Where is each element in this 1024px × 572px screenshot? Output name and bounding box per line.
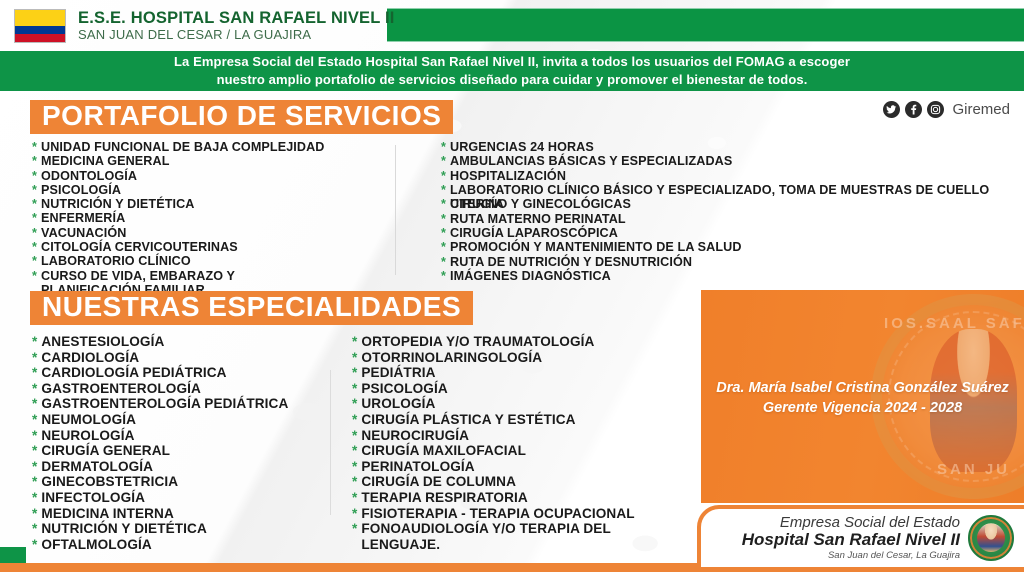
list-item: * CIRUGÍA DE COLUMNA <box>352 474 682 490</box>
list-item-label: OFTALMOLOGÍA <box>41 537 151 553</box>
bullet-star-icon: * <box>32 154 37 168</box>
top-header: E.S.E. HOSPITAL SAN RAFAEL NIVEL II SAN … <box>0 0 1024 51</box>
hospital-seal-logo-icon <box>968 515 1014 561</box>
list-item: * IMÁGENES DIAGNÓSTICA <box>441 269 1001 283</box>
list-item-label: GASTROENTEROLOGÍA PEDIÁTRICA <box>41 396 288 412</box>
list-item: * RUTA MATERNO PERINATAL <box>441 212 1001 226</box>
list-item: * ORTOPEDIA Y/O TRAUMATOLOGÍA <box>352 334 682 350</box>
list-item-label: NEUMOLOGÍA <box>41 412 136 428</box>
list-item-label: PSICOLOGÍA <box>361 381 447 397</box>
list-item-label: NUTRICIÓN Y DIETÉTICA <box>41 521 207 537</box>
list-item: * OFTALMOLOGÍA <box>32 537 322 553</box>
bullet-star-icon: * <box>32 211 37 225</box>
footer-texts: Empresa Social del Estado Hospital San R… <box>742 515 960 562</box>
footer-line-3: San Juan del Cesar, La Guajira <box>742 551 960 561</box>
list-item: * DERMATOLOGÍA <box>32 459 322 475</box>
specialties-column-divider <box>330 370 331 515</box>
list-item-label: RUTA MATERNO PERINATAL <box>450 212 626 226</box>
bullet-star-icon: * <box>441 183 446 197</box>
bullet-star-icon: * <box>32 240 37 254</box>
list-item-label: IMÁGENES DIAGNÓSTICA <box>450 269 611 283</box>
bullet-star-icon: * <box>352 381 357 397</box>
list-item: * PERINATOLOGÍA <box>352 459 682 475</box>
flag-stripe-blue <box>15 26 65 34</box>
bullet-star-icon: * <box>352 365 357 381</box>
list-item-label: UNIDAD FUNCIONAL DE BAJA COMPLEJIDAD <box>41 140 324 154</box>
facebook-icon[interactable] <box>905 101 922 118</box>
list-item-label: CIRUGÍA GENERAL <box>41 443 170 459</box>
list-item: * HOSPITALIZACIÓN <box>441 169 1001 183</box>
list-item: * MEDICINA GENERAL <box>32 154 332 168</box>
list-item: * NEUMOLOGÍA <box>32 412 322 428</box>
organization-names: E.S.E. HOSPITAL SAN RAFAEL NIVEL II SAN … <box>78 10 395 42</box>
bullet-star-icon: * <box>32 412 37 428</box>
bullet-star-icon: * <box>32 169 37 183</box>
manager-name: Dra. María Isabel Cristina González Suár… <box>701 378 1024 398</box>
services-list-right: * URGENCIAS 24 HORAS * AMBULANCIAS BÁSIC… <box>441 140 1001 283</box>
list-item-label: HOSPITALIZACIÓN <box>450 169 566 183</box>
list-item-label: MEDICINA GENERAL <box>41 154 169 168</box>
list-item-label: OTORRINOLARINGOLOGÍA <box>361 350 542 366</box>
instagram-icon[interactable] <box>927 101 944 118</box>
list-item-label: ORTOPEDIA Y/O TRAUMATOLOGÍA <box>361 334 594 350</box>
list-item-label: PEDIÁTRIA <box>361 365 435 381</box>
list-item: * CIRUGÍA GENERAL <box>32 443 322 459</box>
bullet-star-icon: * <box>32 490 37 506</box>
list-item: * GASTROENTEROLOGÍA PEDIÁTRICA <box>32 396 322 412</box>
list-item-label: LABORATORIO CLÍNICO <box>41 254 191 268</box>
list-item: * CITOLOGÍA CERVICOUTERINAS <box>32 240 332 254</box>
flag-stripe-yellow <box>15 10 65 26</box>
bullet-star-icon: * <box>352 443 357 459</box>
list-item-label: CIRUGÍA DE COLUMNA <box>361 474 516 490</box>
list-item-label: DERMATOLOGÍA <box>41 459 153 475</box>
list-item-label: LABORATORIO CLÍNICO BÁSICO Y ESPECIALIZA… <box>450 183 1001 212</box>
list-item: * OTORRINOLARINGOLOGÍA <box>352 350 682 366</box>
list-item-label: GASTROENTEROLOGÍA <box>41 381 201 397</box>
list-item: * ENFERMERÍA <box>32 211 332 225</box>
bullet-star-icon: * <box>352 521 357 537</box>
manager-panel: IOS.SAAL SAFAEL SAN JU Dra. María Isabel… <box>701 290 1024 503</box>
bullet-star-icon: * <box>441 140 446 154</box>
list-item: * TERAPIA RESPIRATORIA <box>352 490 682 506</box>
bullet-star-icon: * <box>441 212 446 226</box>
list-item-label: ODONTOLOGÍA <box>41 169 137 183</box>
list-item-label: URGENCIAS 24 HORAS <box>450 140 594 154</box>
bullet-star-icon: * <box>32 254 37 268</box>
bullet-star-icon: * <box>441 226 446 240</box>
bottom-green-accent <box>0 547 26 563</box>
list-item: * INFECTOLOGÍA <box>32 490 322 506</box>
list-item-label: CARDIOLOGÍA PEDIÁTRICA <box>41 365 226 381</box>
footer-seal-ring <box>970 517 1012 559</box>
section-title-portafolio: PORTAFOLIO DE SERVICIOS <box>30 100 453 134</box>
bullet-star-icon: * <box>32 226 37 240</box>
list-item: * UNIDAD FUNCIONAL DE BAJA COMPLEJIDAD <box>32 140 332 154</box>
list-item: * CIRUGÍA LAPAROSCÓPICA <box>441 226 1001 240</box>
list-item-label: PROMOCIÓN Y MANTENIMIENTO DE LA SALUD <box>450 240 742 254</box>
invitation-line-2: nuestro amplio portafolio de servicios d… <box>217 71 808 89</box>
bullet-star-icon: * <box>441 197 446 211</box>
bullet-star-icon: * <box>352 490 357 506</box>
list-item-label: INFECTOLOGÍA <box>41 490 145 506</box>
list-item: * MEDICINA INTERNA <box>32 506 322 522</box>
bullet-star-icon: * <box>32 521 37 537</box>
bullet-star-icon: * <box>32 197 37 211</box>
manager-role: Gerente Vigencia 2024 - 2028 <box>701 398 1024 418</box>
list-item: * RUTA DE NUTRICIÓN Y DESNUTRICIÓN <box>441 255 1001 269</box>
services-column-divider <box>395 145 396 275</box>
social-handle[interactable]: Giremed <box>952 101 1010 118</box>
list-item: * FONOAUDIOLOGÍA Y/O TERAPIA DEL LENGUAJ… <box>352 521 682 552</box>
bullet-star-icon: * <box>441 154 446 168</box>
list-item-label: CIRUGÍA <box>450 197 504 211</box>
bullet-star-icon: * <box>352 396 357 412</box>
list-item: * CARDIOLOGÍA <box>32 350 322 366</box>
list-item-label: FONOAUDIOLOGÍA Y/O TERAPIA DEL LENGUAJE. <box>361 521 682 552</box>
bullet-star-icon: * <box>441 255 446 269</box>
list-item-label: CIRUGÍA LAPAROSCÓPICA <box>450 226 618 240</box>
list-item: * URGENCIAS 24 HORAS <box>441 140 1001 154</box>
list-item: * PEDIÁTRIA <box>352 365 682 381</box>
list-item-label: FISIOTERAPIA - TERAPIA OCUPACIONAL <box>361 506 634 522</box>
list-item: * NUTRICIÓN Y DIETÉTICA <box>32 197 332 211</box>
list-item-label: TERAPIA RESPIRATORIA <box>361 490 527 506</box>
specialties-list-right: * ORTOPEDIA Y/O TRAUMATOLOGÍA * OTORRINO… <box>352 334 682 552</box>
list-item-label: ENFERMERÍA <box>41 211 125 225</box>
bullet-star-icon: * <box>352 506 357 522</box>
manager-text-block: Dra. María Isabel Cristina González Suár… <box>701 378 1024 418</box>
bullet-star-icon: * <box>32 459 37 475</box>
bullet-star-icon: * <box>352 334 357 350</box>
list-item-label: CIRUGÍA MAXILOFACIAL <box>361 443 526 459</box>
list-item-label: CARDIOLOGÍA <box>41 350 139 366</box>
twitter-icon[interactable] <box>883 101 900 118</box>
bullet-star-icon: * <box>32 350 37 366</box>
list-item-label: GINECOBSTETRICIA <box>41 474 178 490</box>
list-item-label: ANESTESIOLOGÍA <box>41 334 164 350</box>
list-item-label: CITOLOGÍA CERVICOUTERINAS <box>41 240 238 254</box>
bullet-star-icon: * <box>32 269 37 283</box>
list-item-label: MEDICINA INTERNA <box>41 506 174 522</box>
footer-line-1: Empresa Social del Estado <box>742 515 960 532</box>
bullet-star-icon: * <box>32 443 37 459</box>
list-item: * VACUNACIÓN <box>32 226 332 240</box>
seal-arc-bottom-text: SAN JU <box>882 461 1024 478</box>
list-item-label: CIRUGÍA PLÁSTICA Y ESTÉTICA <box>361 412 575 428</box>
list-item: * GASTROENTEROLOGÍA <box>32 381 322 397</box>
bullet-star-icon: * <box>352 474 357 490</box>
list-item: * FISIOTERAPIA - TERAPIA OCUPACIONAL <box>352 506 682 522</box>
list-item: * NEUROLOGÍA <box>32 428 322 444</box>
bullet-star-icon: * <box>352 350 357 366</box>
list-item-label: NEUROCIRUGÍA <box>361 428 469 444</box>
bullet-star-icon: * <box>32 140 37 154</box>
section-title-especialidades: NUESTRAS ESPECIALIDADES <box>30 291 473 325</box>
list-item: * CIRUGÍA PLÁSTICA Y ESTÉTICA <box>352 412 682 428</box>
services-list-left: * UNIDAD FUNCIONAL DE BAJA COMPLEJIDAD *… <box>32 140 332 297</box>
specialties-list-left: * ANESTESIOLOGÍA * CARDIOLOGÍA * CARDIOL… <box>32 334 322 552</box>
list-item-label: NUTRICIÓN Y DIETÉTICA <box>41 197 194 211</box>
footer-logo-block: Empresa Social del Estado Hospital San R… <box>697 505 1024 567</box>
bullet-star-icon: * <box>441 240 446 254</box>
invitation-line-1: La Empresa Social del Estado Hospital Sa… <box>174 53 850 71</box>
list-item-label: AMBULANCIAS BÁSICAS Y ESPECIALIZADAS <box>450 154 732 168</box>
footer-line-2: Hospital San Rafael Nivel II <box>742 531 960 550</box>
bullet-star-icon: * <box>32 474 37 490</box>
list-item: * GINECOBSTETRICIA <box>32 474 322 490</box>
bullet-star-icon: * <box>32 381 37 397</box>
list-item-label: PERINATOLOGÍA <box>361 459 474 475</box>
list-item-label: NEUROLOGÍA <box>41 428 134 444</box>
list-item-label: VACUNACIÓN <box>41 226 126 240</box>
list-item: * LABORATORIO CLÍNICO <box>32 254 332 268</box>
bullet-star-icon: * <box>32 428 37 444</box>
seal-arc-top-text: IOS.SAAL SAFAEL <box>882 315 1024 332</box>
list-item: * PSICOLOGÍA <box>32 183 332 197</box>
list-item-label: UROLOGÍA <box>361 396 435 412</box>
bullet-star-icon: * <box>352 412 357 428</box>
bullet-star-icon: * <box>32 396 37 412</box>
social-links[interactable]: Giremed <box>883 101 1010 118</box>
list-item: * ODONTOLOGÍA <box>32 169 332 183</box>
list-item: * AMBULANCIAS BÁSICAS Y ESPECIALIZADAS <box>441 154 1001 168</box>
bullet-star-icon: * <box>32 506 37 522</box>
bullet-star-icon: * <box>352 459 357 475</box>
list-item: * CIRUGÍA MAXILOFACIAL <box>352 443 682 459</box>
organization-subtitle: SAN JUAN DEL CESAR / LA GUAJIRA <box>78 28 395 42</box>
bullet-star-icon: * <box>352 428 357 444</box>
bullet-star-icon: * <box>32 537 37 553</box>
bullet-star-icon: * <box>32 183 37 197</box>
poster-canvas: E.S.E. HOSPITAL SAN RAFAEL NIVEL II SAN … <box>0 0 1024 572</box>
bullet-star-icon: * <box>32 365 37 381</box>
list-item-label: RUTA DE NUTRICIÓN Y DESNUTRICIÓN <box>450 255 692 269</box>
list-item: * UROLOGÍA <box>352 396 682 412</box>
colombia-flag-icon <box>14 9 66 43</box>
invitation-banner: La Empresa Social del Estado Hospital Sa… <box>0 51 1024 91</box>
list-item-label: PSICOLOGÍA <box>41 183 121 197</box>
list-item: * PSICOLOGÍA <box>352 381 682 397</box>
bullet-star-icon: * <box>32 334 37 350</box>
list-item: * LABORATORIO CLÍNICO BÁSICO Y ESPECIALI… <box>441 183 1001 212</box>
list-item: * ANESTESIOLOGÍA <box>32 334 322 350</box>
bullet-star-icon: * <box>441 169 446 183</box>
list-item: * NEUROCIRUGÍA <box>352 428 682 444</box>
flag-stripe-red <box>15 34 65 42</box>
list-item: * CARDIOLOGÍA PEDIÁTRICA <box>32 365 322 381</box>
list-item: * PROMOCIÓN Y MANTENIMIENTO DE LA SALUD <box>441 240 1001 254</box>
list-item: * NUTRICIÓN Y DIETÉTICA <box>32 521 322 537</box>
bullet-star-icon: * <box>441 269 446 283</box>
organization-title: E.S.E. HOSPITAL SAN RAFAEL NIVEL II <box>78 10 395 27</box>
